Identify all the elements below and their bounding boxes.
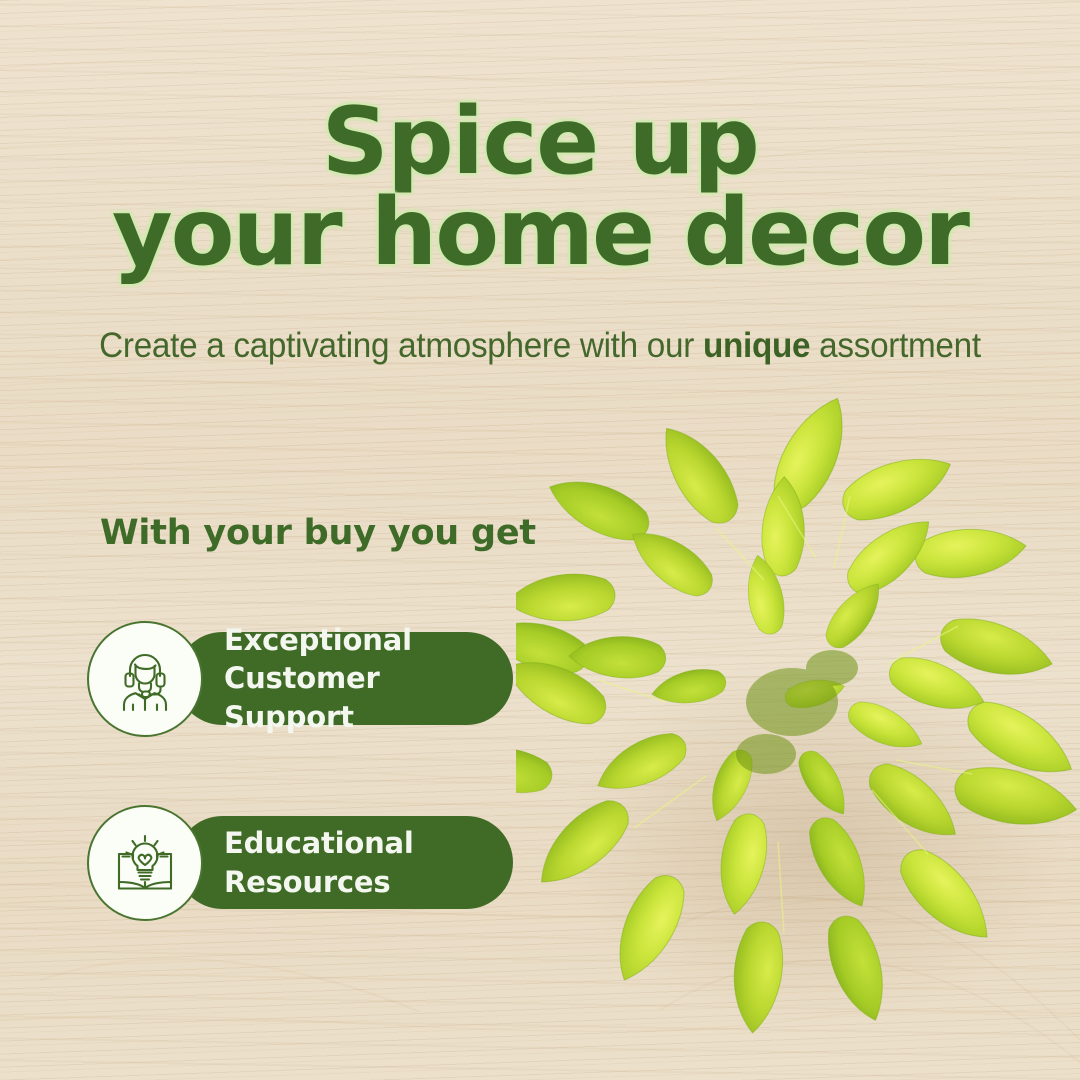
benefit-icon-badge-education [87,805,203,921]
lightbulb-open-book-icon [108,826,182,900]
neon-pothos-plant-image [516,372,1080,1040]
benefit-icon-badge-support [87,621,203,737]
subtitle: Create a captivating atmosphere with our… [27,326,1053,366]
benefit-pill-educational-resources[interactable]: Educational Resources [176,816,513,909]
benefit-label: Exceptional Customer Support [224,621,513,736]
promotional-poster: Spice up your home decor Create a captiv… [0,0,1080,1080]
benefit-pill-customer-support[interactable]: Exceptional Customer Support [176,632,513,725]
headline-line-2: your home decor [0,187,1080,278]
subtitle-emphasis: unique [703,326,810,365]
benefits-heading: With your buy you get [100,513,536,553]
headset-support-agent-icon [108,642,182,716]
benefit-label: Educational Resources [224,824,414,901]
subtitle-after: assortment [810,326,981,365]
subtitle-before: Create a captivating atmosphere with our [99,326,703,365]
page-title: Spice up your home decor [0,96,1080,278]
